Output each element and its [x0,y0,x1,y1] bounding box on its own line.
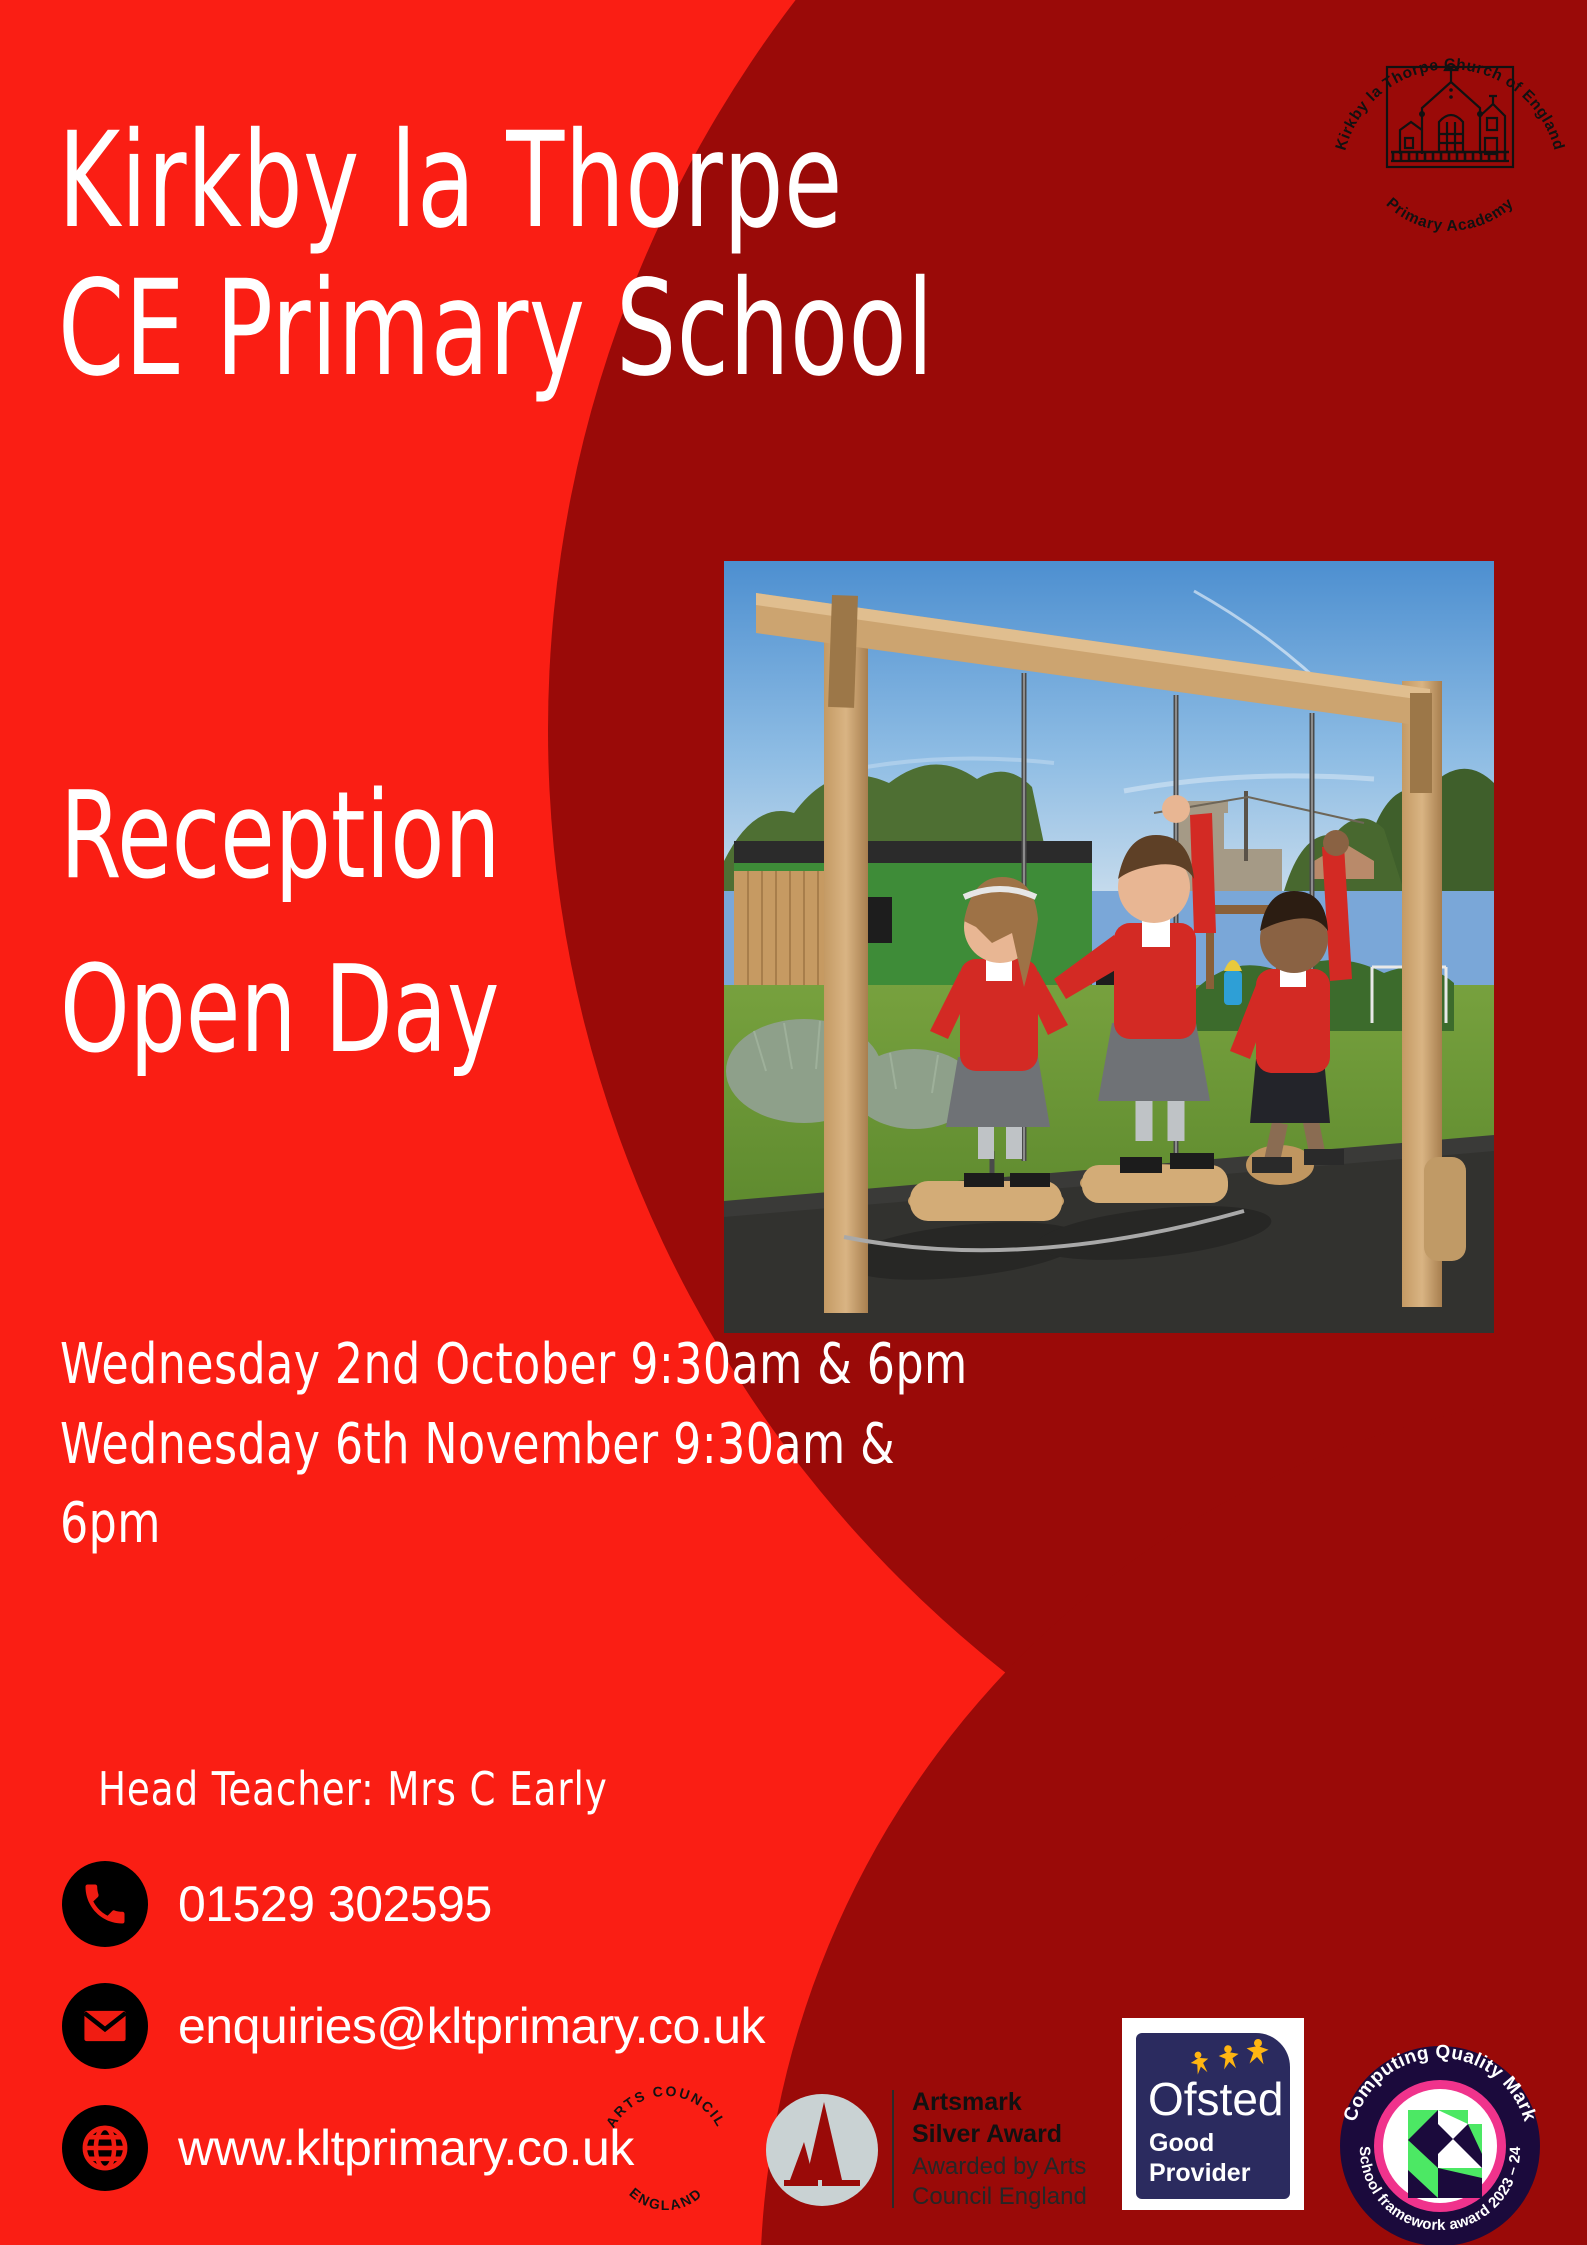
artsmark-title-line-1: Artsmark [912,2088,1022,2116]
artsmark-sub-line-2: Council England [912,2183,1087,2210]
email-address: enquiries@kltprimary.co.uk [178,1997,765,2055]
email-icon [62,1983,148,2069]
ofsted-stars-icon [1188,2038,1269,2075]
open-day-date-1: Wednesday 2nd October 9:30am & 6pm [60,1325,993,1405]
ofsted-good-provider-badge: Ofsted Good Provider [1122,2018,1304,2210]
open-day-dates: Wednesday 2nd October 9:30am & 6pm Wedne… [60,1325,993,1564]
ofsted-wordmark: Ofsted [1148,2073,1284,2125]
poster-canvas: Kirkby la Thorpe Church of England Prima… [0,0,1587,2245]
artsmark-title-line-2: Silver Award [912,2120,1062,2148]
arts-council-arc-top: ARTS COUNCIL [602,2083,729,2131]
phone-icon [62,1861,148,1947]
head-teacher-line: Head Teacher: Mrs C Early [98,1762,608,1816]
ofsted-badge-panel: Ofsted Good Provider [1136,2033,1290,2199]
ofsted-rating-line-2: Provider [1149,2159,1251,2187]
ofsted-rating-line-1: Good [1149,2129,1214,2157]
phone-number: 01529 302595 [178,1875,492,1933]
open-day-date-2: Wednesday 6th November 9:30am & [60,1405,993,1485]
artsmark-divider [892,2090,894,2208]
artsmark-silver-award-logo: ARTS COUNCIL ENGLAND Artsmark Silver Awa… [600,2062,1090,2237]
website-url: www.kltprimary.co.uk [178,2119,634,2177]
svg-text:Primary Academy: Primary Academy [1383,195,1517,235]
open-day-date-3: 6pm [60,1484,993,1564]
globe-icon [62,2105,148,2191]
contact-row-phone[interactable]: 01529 302595 [62,1852,762,1956]
poster-title-line-1: Kirkby la Thorpe [58,108,1210,256]
svg-text:ARTS COUNCIL: ARTS COUNCIL [602,2083,729,2131]
crest-bottom-arc-text: Primary Academy [1383,195,1517,235]
artsmark-sub-line-1: Awarded by Arts [912,2153,1086,2180]
school-playground-photo [724,561,1494,1333]
svg-text:ENGLAND: ENGLAND [627,2184,706,2213]
arts-council-arc-bottom: ENGLAND [627,2184,706,2213]
computing-quality-mark-badge: Computing Quality Mark School framework … [1328,2036,1552,2245]
poster-title: Kirkby la Thorpe CE Primary School [58,108,1210,404]
poster-title-line-2: CE Primary School [58,256,1210,404]
school-crest-logo: Kirkby la Thorpe Church of England Prima… [1325,12,1575,244]
